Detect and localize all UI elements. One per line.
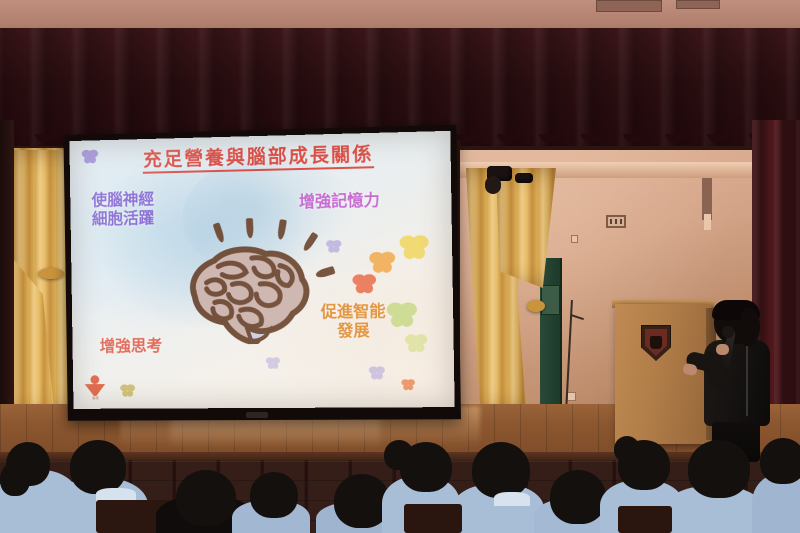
uniform-collar <box>494 492 530 506</box>
ceiling-vent <box>596 0 662 12</box>
student-head <box>70 440 126 494</box>
brain-icon <box>180 235 317 345</box>
slide-label-neuron-activity: 使腦神經 細胞活躍 <box>91 190 154 229</box>
student-head <box>760 438 800 484</box>
projected-slide: 充足營養與腦部成長關係 使腦神經 細胞活躍 增強記憶力 促進智能 發展 增強思考 <box>69 131 454 409</box>
slide-label-intelligence: 促進智能 發展 <box>321 302 386 341</box>
student-head <box>176 470 236 526</box>
student-hair-bun <box>0 462 30 496</box>
student-head <box>688 440 750 498</box>
curtain-tieback[interactable] <box>38 268 64 279</box>
presentation-photo-scene: 充足營養與腦部成長關係 使腦神經 細胞活躍 增強記憶力 促進智能 發展 增強思考 <box>0 0 800 533</box>
logo-caption: 健康 <box>85 396 106 400</box>
school-crest-emblem <box>650 336 662 349</box>
wall-switch[interactable] <box>567 392 576 401</box>
stage-light-barrel <box>485 176 501 194</box>
student-head <box>472 442 530 498</box>
slide-label-memory: 增強記憶力 <box>299 191 380 212</box>
butterfly-icon <box>326 238 342 253</box>
butterfly-icon <box>404 332 428 354</box>
microphone-head <box>722 326 734 338</box>
wall-switch[interactable] <box>571 235 578 243</box>
logo-body <box>85 384 106 396</box>
wall-conduit <box>704 214 711 230</box>
slide-title-text: 充足營養與腦部成長關係 <box>143 143 374 174</box>
student-head <box>550 470 606 524</box>
door-window <box>541 285 560 315</box>
butterfly-icon <box>120 383 136 398</box>
wall-vent <box>606 215 626 228</box>
presenter-right-hand <box>716 344 729 355</box>
proscenium-left-edge <box>0 120 14 420</box>
chair-back <box>404 504 462 533</box>
butterfly-icon <box>401 378 416 391</box>
screen-pull-tab[interactable] <box>246 412 268 418</box>
student-hair-bun <box>250 472 298 518</box>
health-org-logo: 健康 <box>85 375 107 401</box>
brain-illustration <box>180 235 317 345</box>
curtain-tieback[interactable] <box>527 300 545 312</box>
chair-back <box>618 506 672 533</box>
jacket-zipper <box>746 346 748 416</box>
wall-vent-bars <box>610 219 622 224</box>
slide-label-thinking: 增強思考 <box>100 337 163 356</box>
butterfly-icon <box>351 272 377 295</box>
stage-light-icon <box>515 173 533 183</box>
butterfly-icon <box>265 356 280 370</box>
slide-title: 充足營養與腦部成長關係 <box>69 137 450 174</box>
presenter <box>690 300 778 460</box>
butterfly-icon <box>368 250 396 275</box>
student-hair-bun <box>614 436 640 462</box>
ceiling-vent <box>676 0 720 9</box>
logo-head <box>90 375 99 384</box>
butterfly-icon <box>81 148 99 164</box>
student-hair-bun <box>384 440 414 470</box>
butterfly-icon <box>368 365 386 380</box>
butterfly-icon <box>399 233 430 261</box>
butterfly-icon <box>385 300 418 329</box>
